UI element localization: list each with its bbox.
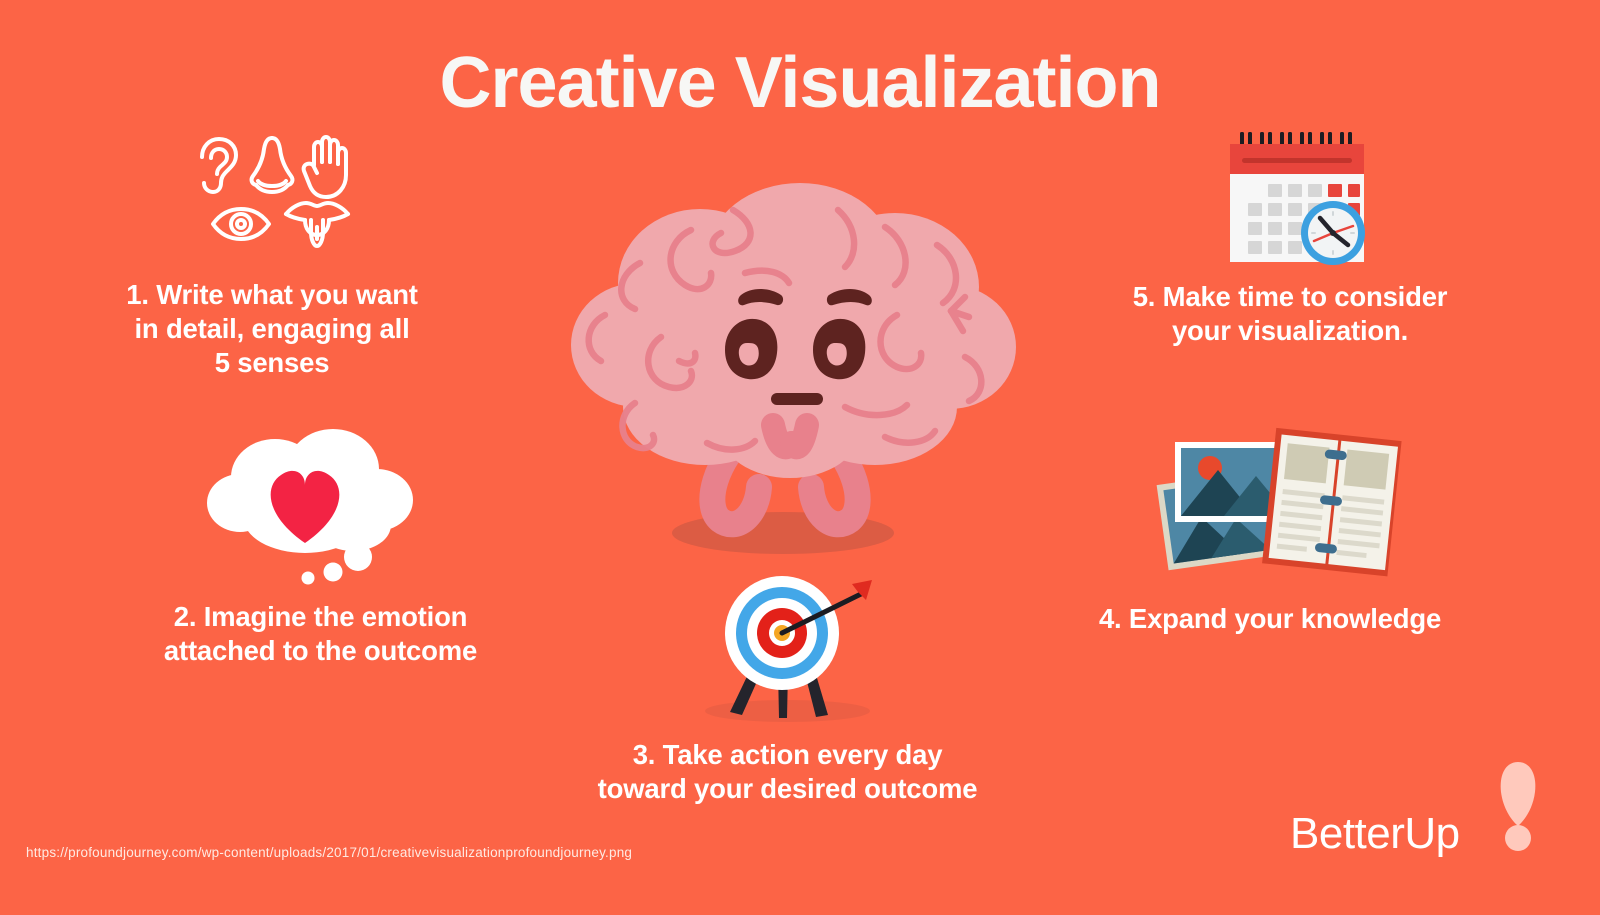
step-3-line-2: toward your desired outcome <box>565 772 1010 806</box>
step-2-text: 2. Imagine the emotion attached to the o… <box>118 600 523 668</box>
brain-character <box>545 175 1025 555</box>
step-3-text: 3. Take action every day toward your des… <box>565 738 1010 806</box>
hand-icon <box>300 135 352 199</box>
page-title: Creative Visualization <box>0 47 1600 119</box>
balloon-mark-icon <box>1497 760 1539 855</box>
betterup-logo: BetterUp <box>1290 760 1545 865</box>
source-url-caption: https://profoundjourney.com/wp-content/u… <box>26 845 632 860</box>
step-2-line-2: attached to the outcome <box>118 634 523 668</box>
thought-bubble-heart-icon <box>205 425 420 585</box>
nose-icon <box>244 135 300 199</box>
photos-and-book-icon <box>1140 420 1402 580</box>
step-1-line-1: 1. Write what you want <box>72 278 472 312</box>
calendar-clock-icon <box>1222 130 1372 265</box>
step-1-text: 1. Write what you want in detail, engagi… <box>72 278 472 380</box>
step-4-text: 4. Expand your knowledge <box>1070 602 1470 636</box>
step-4-line-1: 4. Expand your knowledge <box>1070 602 1470 636</box>
betterup-wordmark: BetterUp <box>1290 809 1460 859</box>
step-5-text: 5. Make time to consider your visualizat… <box>1090 280 1490 348</box>
step-5-line-1: 5. Make time to consider <box>1090 280 1490 314</box>
ear-icon <box>190 135 242 199</box>
step-1-line-3: 5 senses <box>72 346 472 380</box>
step-5-line-2: your visualization. <box>1090 314 1490 348</box>
target-arrow-icon <box>700 570 875 720</box>
infographic-canvas: Creative Visualization <box>0 0 1600 915</box>
mouth-tongue-icon <box>282 197 352 251</box>
step-3-line-1: 3. Take action every day <box>565 738 1010 772</box>
step-2-line-1: 2. Imagine the emotion <box>118 600 523 634</box>
five-senses-icons <box>190 135 355 260</box>
step-1-line-2: in detail, engaging all <box>72 312 472 346</box>
eye-icon <box>210 203 272 245</box>
